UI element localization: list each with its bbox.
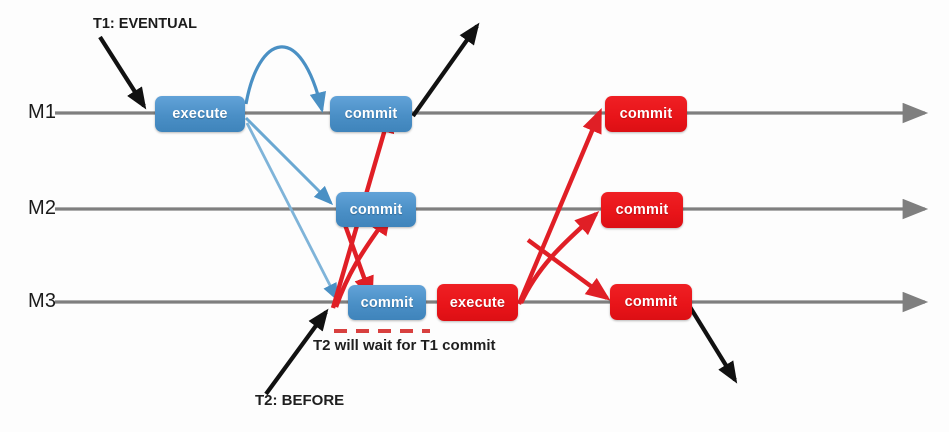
machine-label-m2: M2 bbox=[28, 197, 56, 220]
diagram-canvas: M1 M2 M3 execute commit commit commit ex… bbox=[0, 0, 949, 432]
red-arrow-m3-execute-to-m2-commit-t2 bbox=[521, 214, 596, 303]
blue-arc-m1-execute-to-m1-commit bbox=[246, 47, 322, 110]
blue-arrow-m1-execute-to-m2-commit bbox=[246, 118, 331, 203]
black-arrow-m3-commit-outbound bbox=[690, 307, 735, 380]
m1-commit-t1-box[interactable]: commit bbox=[330, 96, 412, 132]
machine-label-m1: M1 bbox=[28, 101, 56, 124]
t2-wait-note: T2 will wait for T1 commit bbox=[313, 337, 496, 354]
m1-execute-t1-box[interactable]: execute bbox=[155, 96, 245, 132]
m3-commit-t2-box[interactable]: commit bbox=[610, 284, 692, 320]
m2-commit-t1-box[interactable]: commit bbox=[336, 192, 416, 227]
t2-before-label: T2: BEFORE bbox=[255, 392, 344, 409]
t1-eventual-label: T1: EVENTUAL bbox=[93, 16, 197, 32]
blue-arrow-m1-execute-to-m3-commit bbox=[247, 123, 337, 299]
m2-commit-t2-box[interactable]: commit bbox=[601, 192, 683, 228]
diagram-vector-layer bbox=[0, 0, 949, 432]
m3-execute-t2-box[interactable]: execute bbox=[437, 284, 518, 321]
black-arrow-t1-eventual-pointer bbox=[100, 37, 144, 106]
m1-commit-t2-box[interactable]: commit bbox=[605, 96, 687, 132]
m3-commit-t1-box[interactable]: commit bbox=[348, 285, 426, 320]
black-arrow-m1-commit-outbound bbox=[413, 26, 477, 116]
machine-label-m3: M3 bbox=[28, 290, 56, 313]
